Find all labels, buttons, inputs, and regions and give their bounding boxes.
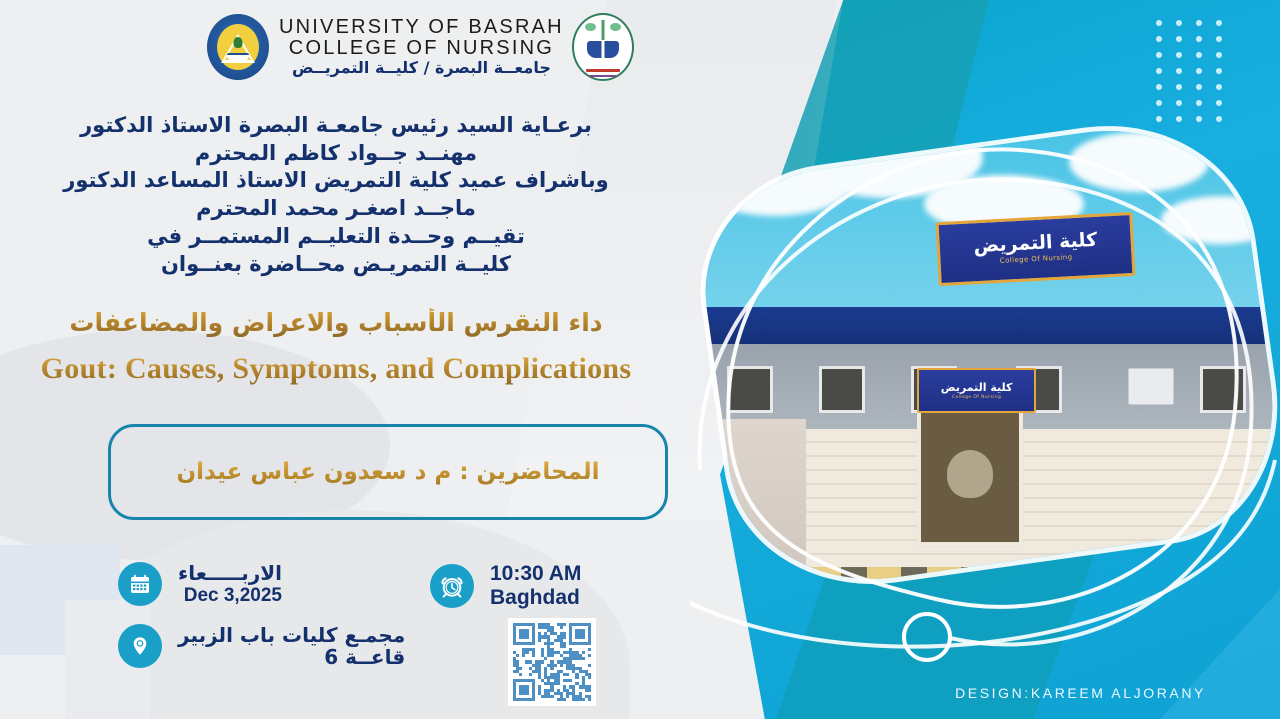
qr-code[interactable] bbox=[508, 618, 596, 706]
lecturer-box: المحاضرين : م د سعدون عباس عيدان bbox=[108, 424, 668, 520]
intro-line-3: وباشراف عميد كلية التمريض الاستاذ المساع… bbox=[0, 167, 672, 195]
time-value: 10:30 AM bbox=[490, 562, 581, 586]
lecture-title-english: Gout: Causes, Symptoms, and Complication… bbox=[0, 352, 672, 386]
window-2 bbox=[819, 366, 865, 414]
intro-paragraph: برعـاية السيد رئيس جامعـة البصرة الاستاذ… bbox=[0, 112, 672, 278]
building-sign-english: College Of Nursing bbox=[1000, 254, 1073, 266]
window-5 bbox=[1200, 366, 1246, 414]
lecture-title-arabic: داء النقرس الأسباب والاعراض والمضاعفات bbox=[0, 308, 672, 337]
intro-line-2: مهنــد جــواد كاظم المحترم bbox=[0, 140, 672, 168]
cloud-4 bbox=[1069, 132, 1209, 192]
date-text: الاربـــــعاء Dec 3,2025 bbox=[178, 562, 282, 606]
date-weekday: الاربـــــعاء bbox=[178, 562, 282, 584]
design-credit: DESIGN:KAREEM ALJORANY bbox=[955, 685, 1206, 701]
door-sign-arabic: كلية التمريض bbox=[941, 382, 1013, 393]
header-line-college: COLLEGE OF NURSING bbox=[289, 38, 554, 58]
location-hall: قاعــة 6 bbox=[178, 646, 405, 668]
location-text: مجمـع كليات باب الزبير قاعــة 6 bbox=[178, 624, 405, 669]
ring-circle-decoration bbox=[902, 612, 952, 662]
window-1 bbox=[727, 366, 773, 414]
intro-line-5: تقيــم وحــدة التعليــم المستمــر في bbox=[0, 223, 672, 251]
intro-line-6: كليــة التمريـض محــاضرة بعنــوان bbox=[0, 251, 672, 279]
header-line-university: UNIVERSITY OF BASRAH bbox=[279, 17, 564, 37]
map-pin-icon bbox=[118, 624, 162, 668]
door-emblem bbox=[947, 450, 993, 498]
info-right-column: 10:30 AM Baghdad bbox=[430, 562, 581, 620]
university-of-basrah-seal-icon bbox=[205, 12, 271, 82]
lecturer-name: المحاضرين : م د سعدون عباس عيدان bbox=[176, 459, 599, 485]
header-line-arabic: جامعــة البصرة / كليــة التمريــض bbox=[292, 60, 551, 76]
poster-header: UNIVERSITY OF BASRAH COLLEGE OF NURSING … bbox=[205, 12, 634, 82]
intro-line-1: برعـاية السيد رئيس جامعـة البصرة الاستاذ… bbox=[0, 112, 672, 140]
date-value: Dec 3,2025 bbox=[178, 585, 282, 606]
time-zone: Baghdad bbox=[490, 586, 581, 610]
roof-band bbox=[690, 307, 1280, 344]
time-text: 10:30 AM Baghdad bbox=[490, 562, 581, 610]
calendar-icon bbox=[118, 562, 162, 606]
building-sign-arabic: كلية التمريض bbox=[973, 231, 1098, 256]
location-venue: مجمـع كليات باب الزبير bbox=[178, 624, 405, 646]
college-of-nursing-seal-icon bbox=[572, 13, 634, 81]
header-text-block: UNIVERSITY OF BASRAH COLLEGE OF NURSING … bbox=[279, 17, 564, 76]
qr-code-pattern bbox=[513, 623, 591, 701]
air-conditioner bbox=[1128, 368, 1174, 405]
poster-canvas: كلية التمريض College Of Nursing كلية الت… bbox=[0, 0, 1280, 719]
building-sign-top: كلية التمريض College Of Nursing bbox=[936, 212, 1136, 286]
alarm-clock-icon bbox=[430, 564, 474, 608]
college-building-photo: كلية التمريض College Of Nursing كلية الت… bbox=[690, 112, 1280, 598]
photo-inner: كلية التمريض College Of Nursing كلية الت… bbox=[690, 112, 1280, 598]
building-sign-door: كلية التمريض College Of Nursing bbox=[918, 368, 1036, 413]
door-sign-english: College Of Nursing bbox=[952, 395, 1001, 400]
intro-line-4: ماجــد اصغـر محمد المحترم bbox=[0, 195, 672, 223]
info-row-time: 10:30 AM Baghdad bbox=[430, 562, 581, 610]
